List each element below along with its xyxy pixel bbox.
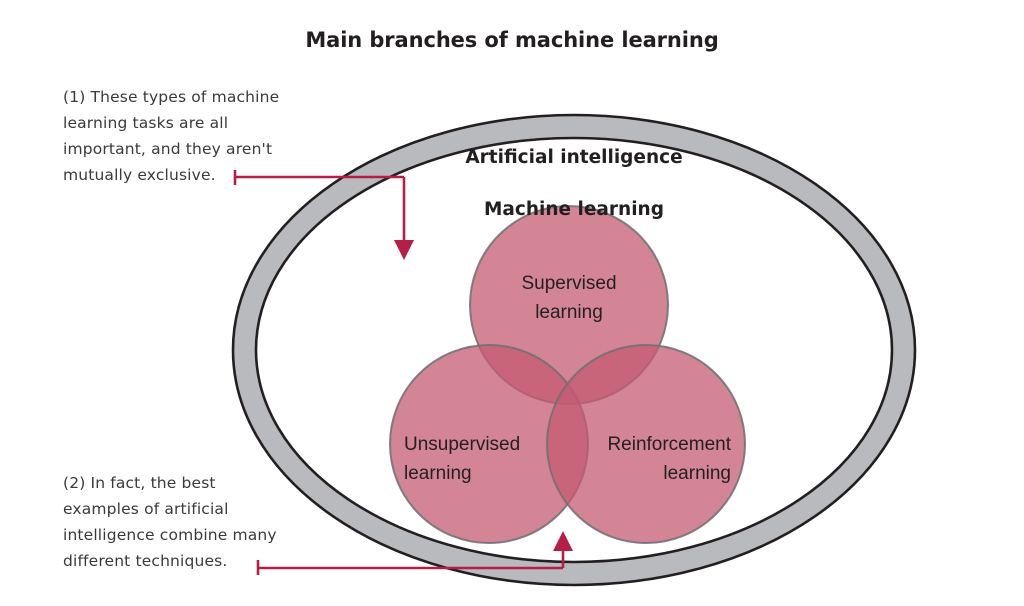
figure-canvas: Main branches of machine learning (1) Th…	[0, 0, 1024, 606]
label-supervised-line1: Supervised	[521, 273, 616, 294]
label-unsupervised-line1: Unsupervised	[404, 434, 520, 455]
label-reinforcement-line2: learning	[663, 463, 731, 484]
label-reinforcement-line1: Reinforcement	[607, 434, 731, 455]
label-supervised-line2: learning	[535, 302, 603, 323]
venn-diagram: Artificial intelligence Machine learning…	[0, 0, 1024, 606]
outer-ellipse-label: Artificial intelligence	[465, 147, 682, 168]
label-unsupervised-line2: learning	[404, 463, 472, 484]
inner-ellipse-label: Machine learning	[484, 199, 664, 220]
